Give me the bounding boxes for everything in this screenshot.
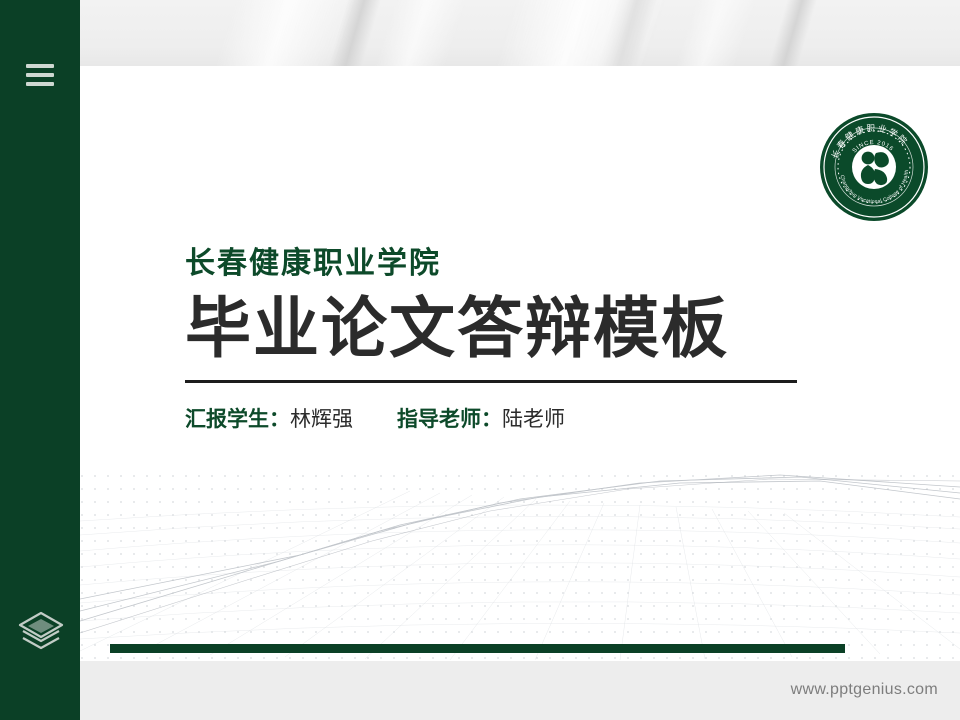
green-accent-bar (110, 644, 845, 653)
swoosh-light-3 (464, 0, 685, 66)
footer-bar: www.pptgenius.com (80, 661, 960, 720)
advisor-name: 陆老师 (502, 408, 565, 431)
presenter-label: 汇报学生： (185, 408, 290, 431)
hamburger-menu-icon[interactable] (26, 64, 54, 86)
page-title: 毕业论文答辩模板 (185, 292, 885, 366)
top-texture-band (80, 0, 960, 66)
dot-mesh-decoration (80, 461, 960, 661)
slide-card: 长春健康职业学院 SINCE 2016 Changchun Vocational… (80, 66, 960, 661)
advisor-label: 指导老师： (397, 408, 502, 431)
presenter-name: 林辉强 (290, 408, 353, 431)
title-divider-rule (185, 380, 797, 383)
title-block: 长春健康职业学院 毕业论文答辩模板 汇报学生：林辉强指导老师：陆老师 (185, 246, 885, 434)
slide-canvas: 长春健康职业学院 SINCE 2016 Changchun Vocational… (0, 0, 960, 720)
hamburger-bar-1 (26, 64, 54, 68)
swoosh-light-4 (644, 0, 775, 66)
hamburger-bar-2 (26, 73, 54, 77)
footer-url: www.pptgenius.com (791, 681, 938, 699)
left-green-rail (0, 0, 80, 720)
school-name: 长春健康职业学院 (185, 246, 885, 282)
layers-stack-icon[interactable] (14, 604, 68, 658)
hamburger-bar-3 (26, 82, 54, 86)
college-seal-logo: 长春健康职业学院 SINCE 2016 Changchun Vocational… (818, 111, 930, 223)
swoosh-shade-3 (741, 0, 828, 66)
presenter-advisor-line: 汇报学生：林辉强指导老师：陆老师 (185, 405, 885, 434)
